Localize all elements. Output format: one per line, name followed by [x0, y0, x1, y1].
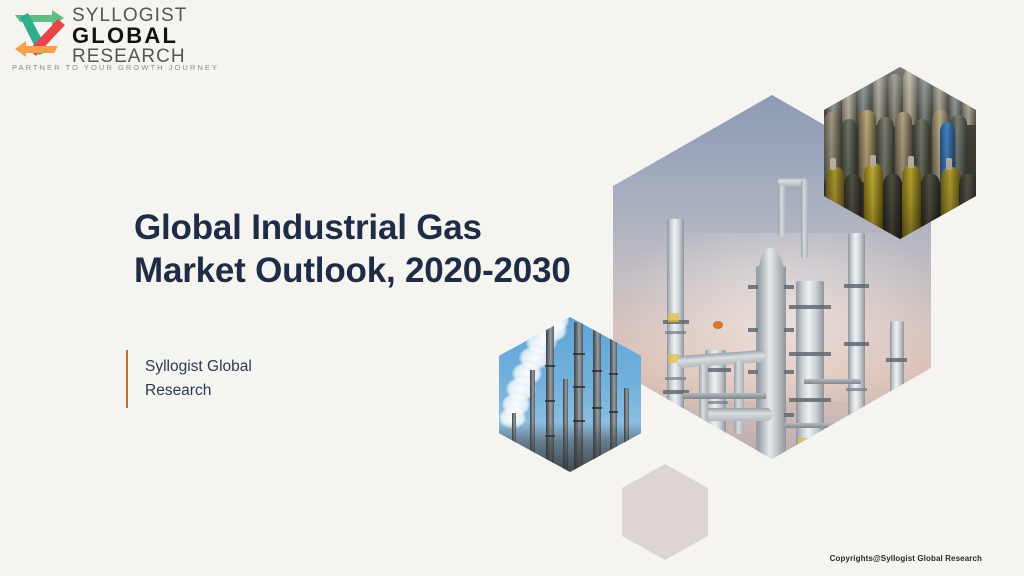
subtitle: Syllogist Global Research [126, 350, 252, 408]
smokestack [530, 370, 535, 472]
copyright-notice: Copyrights@Syllogist Global Research [830, 554, 982, 563]
subtitle-line-1: Syllogist Global [145, 355, 252, 379]
refinery-tower [705, 350, 726, 459]
syllogist-logo-mark-icon [8, 6, 70, 62]
refinery-tower [665, 423, 688, 459]
refinery-tower [890, 321, 904, 459]
page-title-line-2: Market Outlook, 2020-2030 [134, 249, 654, 292]
page-title: Global Industrial Gas Market Outlook, 20… [134, 206, 654, 293]
brand-logo[interactable]: SYLLOGIST GLOBAL RESEARCH PARTNER TO YOU… [6, 4, 206, 78]
refinery-tower [796, 281, 824, 459]
smokestack [610, 325, 617, 472]
brand-wordmark: SYLLOGIST GLOBAL RESEARCH [72, 4, 204, 60]
refinery-pipe [778, 179, 786, 237]
presentation-slide: SYLLOGIST GLOBAL RESEARCH PARTNER TO YOU… [0, 0, 1024, 576]
refinery-deck [785, 423, 868, 429]
refinery-tower [667, 219, 684, 459]
decorative-hexagon [622, 464, 708, 560]
refinery-deck [804, 379, 861, 384]
brand-word-syllogist: SYLLOGIST [72, 4, 204, 25]
brand-tagline: PARTNER TO YOUR GROWTH JOURNEY [12, 63, 219, 72]
page-title-line-1: Global Industrial Gas [134, 206, 654, 249]
refinery-tower [848, 233, 865, 459]
refinery-pipe [702, 408, 772, 421]
refinery-pipe [801, 179, 809, 259]
refinery-flare [713, 321, 723, 329]
refinery-deck [683, 393, 766, 399]
plant-ground-structures [499, 422, 641, 472]
subtitle-line-2: Research [145, 379, 252, 403]
brand-word-global: GLOBAL [72, 25, 204, 47]
